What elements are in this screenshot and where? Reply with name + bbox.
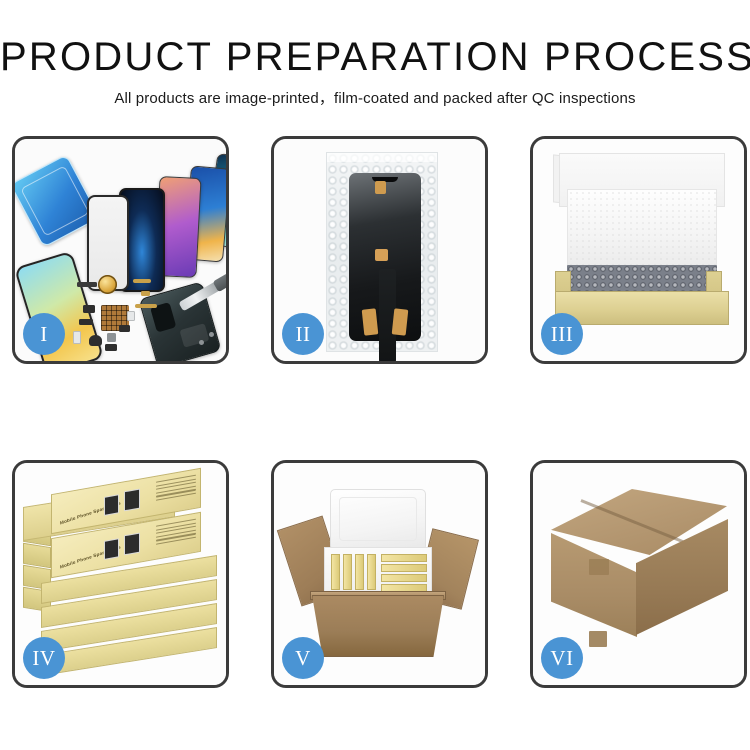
packed-unit-image: [381, 554, 427, 562]
process-step-2[interactable]: II: [271, 136, 488, 364]
tape-image: [362, 308, 379, 335]
box-screen-print-image: [124, 533, 140, 556]
box-screen-print-image: [104, 494, 119, 516]
process-step-grid: I II: [12, 136, 738, 688]
kraft-box-front-image: [555, 291, 729, 325]
tape-image: [375, 249, 388, 261]
gray-bubble-wrap-image: [567, 265, 717, 293]
part-bit: [77, 282, 97, 287]
step-badge-4: IV: [23, 637, 65, 679]
foam-box-body-image: [324, 547, 432, 597]
part-flex-cable: [135, 304, 157, 308]
carton-tape-image: [589, 631, 607, 647]
part-bit: [127, 311, 135, 321]
step-badge-2: II: [282, 313, 324, 355]
part-bit: [107, 333, 116, 342]
carton-left-face-image: [551, 533, 637, 637]
product-preparation-process-page: PRODUCT PREPARATION PROCESS All products…: [0, 0, 750, 750]
step-badge-6: VI: [541, 637, 583, 679]
process-step-1[interactable]: I: [12, 136, 229, 364]
part-bit: [141, 291, 150, 296]
page-subtitle: All products are image-printed，film-coat…: [0, 87, 750, 108]
process-step-6[interactable]: VI: [530, 460, 747, 688]
tape-image: [392, 308, 409, 335]
bag-seal-image: [327, 153, 437, 162]
box-screen-print-image: [104, 538, 119, 560]
part-bit: [89, 335, 102, 346]
carton-tape-image: [589, 559, 609, 575]
process-step-5[interactable]: V: [271, 460, 488, 688]
bubble-wrap-bag-image: [326, 152, 438, 352]
packed-unit-image: [381, 564, 427, 572]
box-spec-lines-image: [156, 519, 196, 548]
packed-unit-image: [343, 554, 352, 590]
tape-image: [375, 181, 386, 194]
box-screen-print-image: [124, 489, 140, 512]
step-badge-1: I: [23, 313, 65, 355]
packed-unit-image: [355, 554, 364, 590]
foam-box-lid-image: [330, 489, 426, 551]
part-bit: [73, 331, 81, 344]
carton-body-image: [312, 595, 444, 657]
part-bit: [79, 319, 93, 325]
box-spec-lines-image: [156, 475, 196, 504]
header: PRODUCT PREPARATION PROCESS All products…: [0, 0, 750, 108]
process-step-3[interactable]: III: [530, 136, 747, 364]
step-badge-3: III: [541, 313, 583, 355]
part-bit: [105, 344, 117, 351]
part-bit: [119, 325, 130, 332]
screw-image: [209, 332, 214, 337]
packed-unit-image: [367, 554, 376, 590]
foam-sheet-image: [567, 189, 717, 267]
packed-unit-image: [331, 554, 340, 590]
packed-unit-image: [381, 574, 427, 582]
part-bit: [83, 305, 95, 313]
step-badge-5: V: [282, 637, 324, 679]
page-title: PRODUCT PREPARATION PROCESS: [0, 36, 750, 78]
screw-image: [199, 340, 204, 345]
speaker-coil-image: [98, 275, 117, 294]
part-flex-cable: [133, 279, 151, 283]
wrapped-screen-image: [349, 173, 421, 341]
box-side-image: [23, 543, 51, 568]
process-step-4[interactable]: Mobile Phone Spare Parts Mobile Phone Sp…: [12, 460, 229, 688]
